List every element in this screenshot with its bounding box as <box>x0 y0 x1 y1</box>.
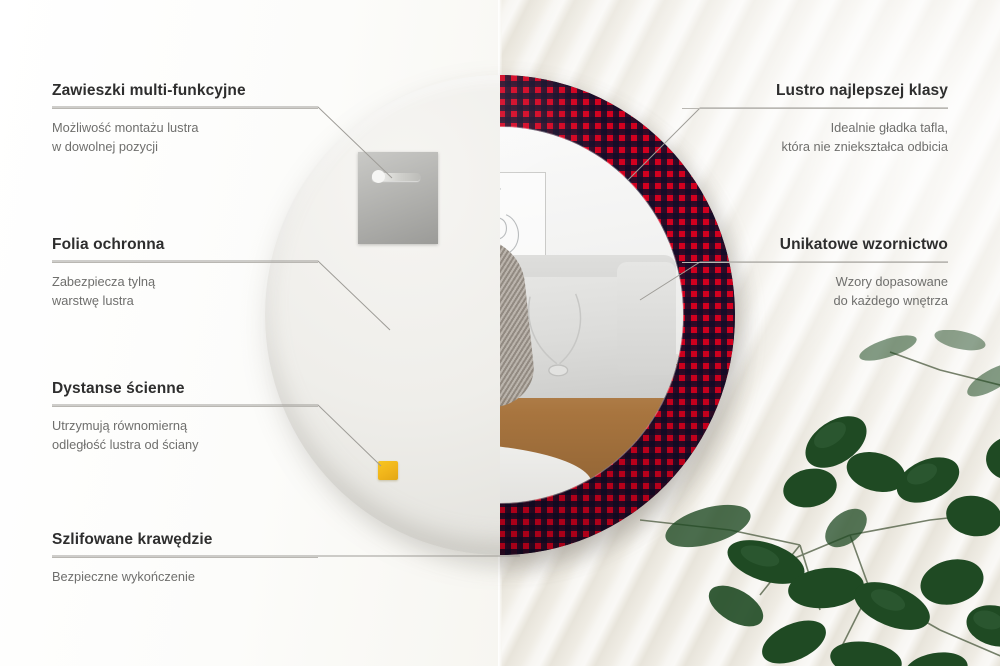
callout-desc: Idealnie gładka tafla, która nie znieksz… <box>682 119 948 156</box>
callout-desc: Bezpieczne wykończenie <box>52 568 318 587</box>
reflection-wire-hook <box>522 292 603 390</box>
callout-rule <box>52 406 318 407</box>
callout-rule <box>52 262 318 263</box>
callout-rule <box>682 262 948 263</box>
callout-title: Dystanse ścienne <box>52 380 318 398</box>
callout-title: Zawieszki multi-funkcyjne <box>52 82 318 100</box>
callout-desc: Możliwość montażu lustra w dowolnej pozy… <box>52 119 318 156</box>
callout-title: Folia ochronna <box>52 236 318 254</box>
hanger-keyhole-slot <box>372 173 420 181</box>
callout-desc: Zabezpiecza tylną warstwę lustra <box>52 273 318 310</box>
hanger-plate-icon <box>358 152 438 244</box>
callout-rule <box>682 108 948 109</box>
callout-desc: Wzory dopasowane do każdego wnętrza <box>682 273 948 310</box>
callout-title: Szlifowane krawędzie <box>52 531 318 549</box>
callout-lustro: Lustro najlepszej klasy Idealnie gładka … <box>682 82 948 156</box>
callout-title: Lustro najlepszej klasy <box>682 82 948 100</box>
callout-desc: Utrzymują równomierną odległość lustra o… <box>52 417 318 454</box>
callout-folia: Folia ochronna Zabezpiecza tylną warstwę… <box>52 236 318 310</box>
callout-zawieszki: Zawieszki multi-funkcyjne Możliwość mont… <box>52 82 318 156</box>
infographic-stage: Zawieszki multi-funkcyjne Możliwość mont… <box>0 0 1000 666</box>
callout-krawedzie: Szlifowane krawędzie Bezpieczne wykończe… <box>52 531 318 587</box>
callout-dystanse: Dystanse ścienne Utrzymują równomierną o… <box>52 380 318 454</box>
callout-title: Unikatowe wzornictwo <box>682 236 948 254</box>
callout-rule <box>52 557 318 558</box>
wall-spacer-icon <box>378 461 398 480</box>
reflection-sofa-arm <box>617 262 676 375</box>
callout-rule <box>52 108 318 109</box>
mirror-glass <box>500 127 683 503</box>
callout-wzornictwo: Unikatowe wzornictwo Wzory dopasowane do… <box>682 236 948 310</box>
